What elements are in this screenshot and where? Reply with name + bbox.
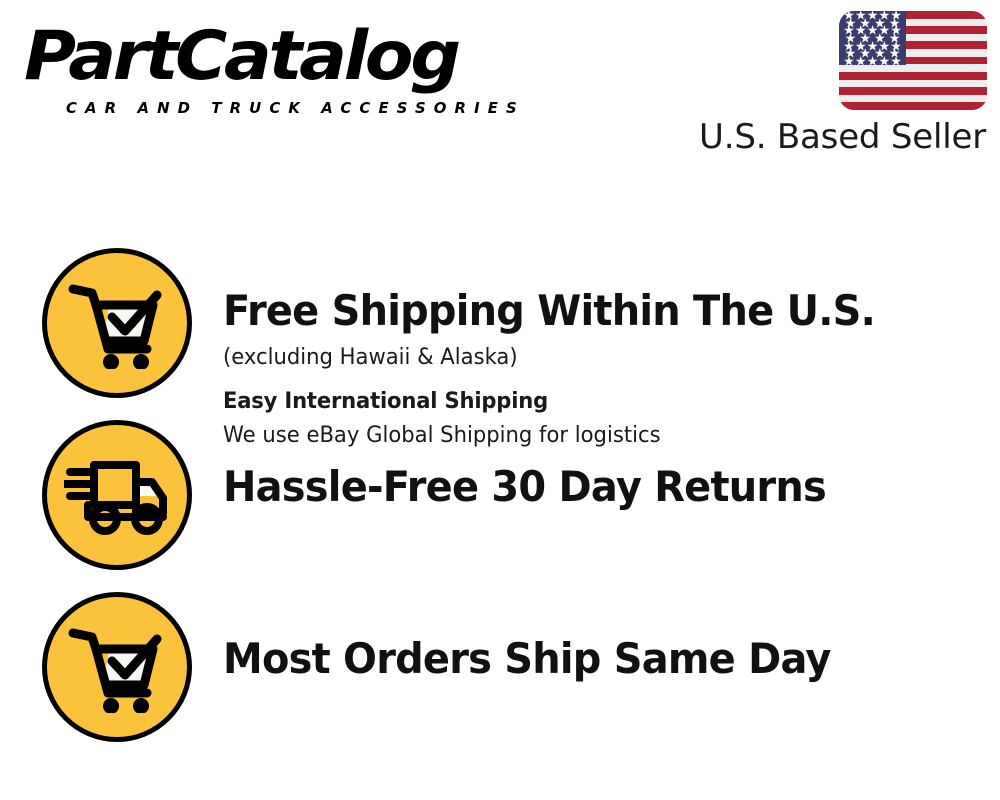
feature-row: Most Orders Ship Same Day bbox=[0, 582, 1000, 754]
brand-logo: PartCatalog CAR AND TRUCK ACCESSORIES bbox=[24, 20, 494, 120]
flag-stripe bbox=[839, 80, 987, 88]
feature-text-block: Most Orders Ship Same Day bbox=[223, 634, 963, 684]
flag-star: ★ bbox=[855, 55, 867, 68]
feature-heading: Hassle-Free 30 Day Returns bbox=[223, 462, 926, 512]
flag-canton: ★★★★★★★★★★★★★★★★★★★★★★★★★★★★★★★★ bbox=[839, 11, 906, 65]
flag-stripe bbox=[839, 102, 987, 110]
flag-star: ★ bbox=[843, 55, 855, 68]
page-header: PartCatalog CAR AND TRUCK ACCESSORIES ★★… bbox=[0, 0, 1000, 175]
flag-stripe bbox=[839, 72, 987, 80]
us-flag-icon: ★★★★★★★★★★★★★★★★★★★★★★★★★★★★★★★★ bbox=[839, 11, 987, 110]
shopping-cart-check-icon bbox=[42, 248, 192, 398]
feature-text-block: Hassle-Free 30 Day Returns bbox=[223, 462, 963, 512]
feature-heading: Most Orders Ship Same Day bbox=[223, 634, 926, 684]
feature-row: Free Shipping Within The U.S. (excluding… bbox=[0, 238, 1000, 410]
shopping-cart-check-icon bbox=[42, 592, 192, 742]
brand-tagline: CAR AND TRUCK ACCESSORIES bbox=[66, 99, 525, 117]
us-based-seller-label: U.S. Based Seller bbox=[600, 117, 986, 157]
feature-row: Hassle-Free 30 Day Returns bbox=[0, 410, 1000, 582]
feature-subtext-1: (excluding Hawaii & Alaska) bbox=[223, 342, 933, 374]
flag-star: ★ bbox=[890, 55, 902, 68]
fast-delivery-truck-icon bbox=[42, 420, 192, 570]
flag-stripe bbox=[839, 95, 987, 103]
flag-stripe bbox=[839, 87, 987, 95]
brand-wordmark: PartCatalog bbox=[24, 20, 458, 94]
flag-star: ★ bbox=[878, 55, 890, 68]
feature-heading: Free Shipping Within The U.S. bbox=[223, 286, 926, 336]
flag-star: ★ bbox=[867, 55, 879, 68]
